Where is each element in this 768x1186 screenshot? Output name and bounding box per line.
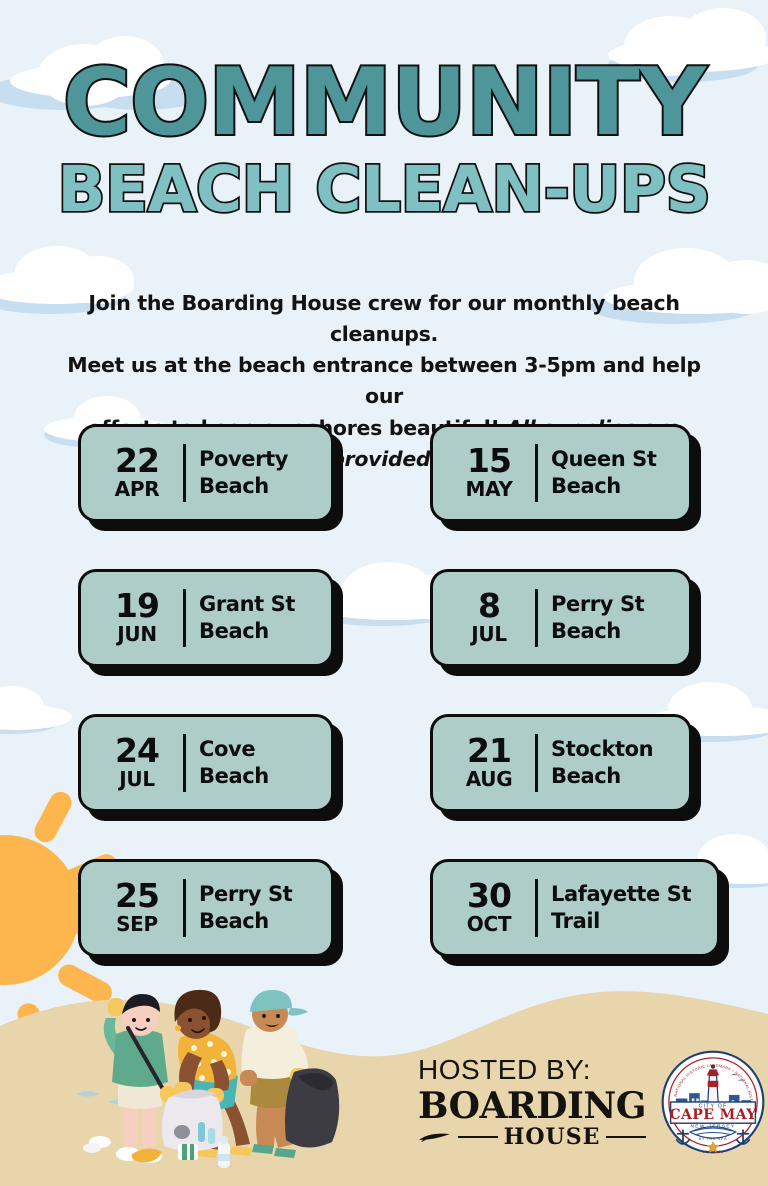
event-date: 19 JUN <box>95 589 179 647</box>
card-divider <box>183 879 186 937</box>
event-card[interactable]: 19 JUN Grant St Beach <box>78 569 334 667</box>
event-date: 21 AUG <box>447 734 531 792</box>
card-divider <box>535 444 538 502</box>
event-month: SEP <box>95 912 179 937</box>
event-card[interactable]: 30 OCT Lafayette St Trail <box>430 859 720 957</box>
event-day: 8 <box>447 589 531 622</box>
person-with-black-garbage-bag <box>240 990 339 1158</box>
event-card[interactable]: 21 AUG Stockton Beach <box>430 714 692 812</box>
hosted-by-label: HOSTED BY: <box>418 1055 646 1086</box>
event-row: 24 JUL Cove Beach 21 AUG Stockton Beach <box>0 714 768 859</box>
rule-right <box>606 1136 646 1138</box>
event-card[interactable]: 25 SEP Perry St Beach <box>78 859 334 957</box>
event-location: Grant St Beach <box>199 591 295 646</box>
brand-sub-row: HOUSE <box>418 1126 646 1148</box>
event-card[interactable]: 24 JUL Cove Beach <box>78 714 334 812</box>
event-month: JUL <box>95 767 179 792</box>
event-location-line-1: Stockton <box>551 736 653 763</box>
card-divider <box>535 879 538 937</box>
title-block: COMMUNITY BEACH CLEAN-UPS <box>0 58 768 221</box>
event-location-line-1: Poverty <box>199 446 288 473</box>
card-divider <box>535 734 538 792</box>
event-card[interactable]: 22 APR Poverty Beach <box>78 424 334 522</box>
event-location-line-2: Trail <box>551 908 691 935</box>
event-month: AUG <box>447 767 531 792</box>
footer-host-block: HOSTED BY: BOARDING HOUSE <box>418 1039 748 1164</box>
event-location-line-1: Perry St <box>199 881 292 908</box>
event-location: Stockton Beach <box>551 736 653 791</box>
event-location-line-2: Beach <box>551 618 644 645</box>
event-month: OCT <box>447 912 531 937</box>
card-divider <box>535 589 538 647</box>
event-month: APR <box>95 477 179 502</box>
event-row: 22 APR Poverty Beach 15 MAY Queen St Bea… <box>0 424 768 569</box>
event-location-line-1: Queen St <box>551 446 657 473</box>
surfboard-swash-icon <box>418 1131 452 1143</box>
event-row: 19 JUN Grant St Beach 8 JUL Perry St Bea… <box>0 569 768 714</box>
seal-city-name: CAPE MAY <box>669 1106 757 1122</box>
event-location-line-1: Lafayette St <box>551 881 691 908</box>
event-location-line-2: Beach <box>199 763 269 790</box>
event-location-line-2: Beach <box>199 473 288 500</box>
food-wrapper <box>178 1144 198 1160</box>
event-location: Queen St Beach <box>551 446 657 501</box>
event-card[interactable]: 8 JUL Perry St Beach <box>430 569 692 667</box>
event-card[interactable]: 15 MAY Queen St Beach <box>430 424 692 522</box>
event-day: 25 <box>95 879 179 912</box>
event-month: MAY <box>447 477 531 502</box>
event-location: Lafayette St Trail <box>551 881 691 936</box>
poster-canvas: COMMUNITY BEACH CLEAN-UPS Join the Board… <box>0 0 768 1186</box>
event-location: Perry St Beach <box>551 591 644 646</box>
event-day: 30 <box>447 879 531 912</box>
event-date: 25 SEP <box>95 879 179 937</box>
seal-founded: EST. 1851 <box>703 1150 724 1154</box>
event-day: 15 <box>447 444 531 477</box>
brand-name: BOARDING <box>418 1088 646 1126</box>
page-title: COMMUNITY <box>0 58 768 146</box>
event-month: JUN <box>95 622 179 647</box>
page-subtitle: BEACH CLEAN-UPS <box>0 158 768 221</box>
city-of-cape-may-seal-icon: NATIONAL HISTORIC LANDMARK • NATIONAL HI… <box>660 1049 766 1155</box>
event-location-line-2: Beach <box>199 618 295 645</box>
event-day: 21 <box>447 734 531 767</box>
event-location-line-2: Beach <box>551 763 653 790</box>
event-day: 19 <box>95 589 179 622</box>
person-woman-holding-trash-bag <box>162 990 252 1158</box>
host-text-group: HOSTED BY: BOARDING HOUSE <box>418 1055 646 1149</box>
seal-ribbon-text: BY THE SEA <box>699 1136 728 1140</box>
description-line-2: Meet us at the beach entrance between 3-… <box>50 350 718 412</box>
event-date: 15 MAY <box>447 444 531 502</box>
event-location-line-2: Beach <box>199 908 292 935</box>
description-line-1: Join the Boarding House crew for our mon… <box>50 288 718 350</box>
event-date: 24 JUL <box>95 734 179 792</box>
event-date: 8 JUL <box>447 589 531 647</box>
volunteers-illustration <box>72 976 352 1176</box>
event-month: JUL <box>447 622 531 647</box>
event-location: Perry St Beach <box>199 881 292 936</box>
event-date: 30 OCT <box>447 879 531 937</box>
event-location-line-2: Beach <box>551 473 657 500</box>
card-divider <box>183 589 186 647</box>
event-location-line-1: Cove <box>199 736 269 763</box>
event-schedule-list: 22 APR Poverty Beach 15 MAY Queen St Bea… <box>0 424 768 1004</box>
event-location: Poverty Beach <box>199 446 288 501</box>
event-date: 22 APR <box>95 444 179 502</box>
event-day: 22 <box>95 444 179 477</box>
card-divider <box>183 734 186 792</box>
event-location-line-1: Perry St <box>551 591 644 618</box>
event-location: Cove Beach <box>199 736 269 791</box>
brand-sub: HOUSE <box>504 1126 601 1148</box>
card-divider <box>183 444 186 502</box>
event-location-line-1: Grant St <box>199 591 295 618</box>
rule-left <box>458 1136 498 1138</box>
event-day: 24 <box>95 734 179 767</box>
